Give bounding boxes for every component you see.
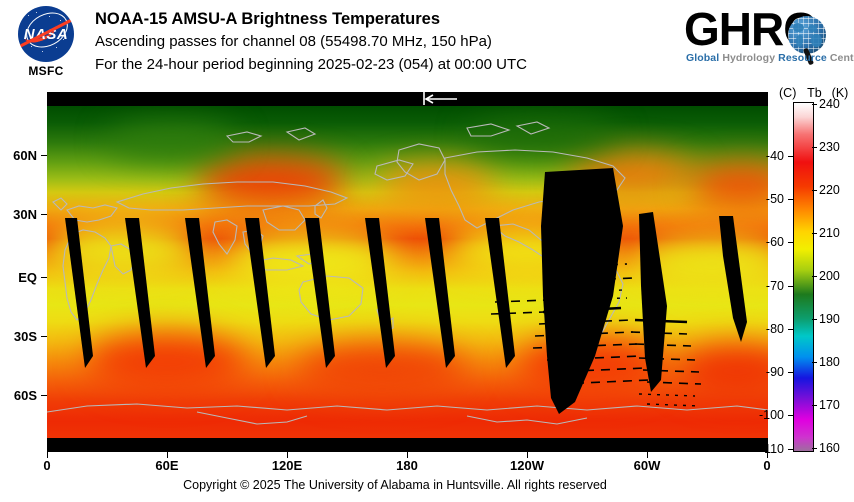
cb-label-k-230: 230 (819, 140, 840, 154)
lat-label-60s: 60S (0, 388, 37, 403)
ghrc-subtitle: Global Hydrology Resource Center (686, 52, 854, 64)
lon-label-0e: 0 (27, 458, 67, 473)
nasa-logo: NASA MSFC (14, 6, 78, 78)
colorbar-unit-celsius: (C) (779, 86, 796, 100)
lon-label-60w: 60W (627, 458, 667, 473)
cb-tick-c-m90 (788, 372, 793, 373)
cb-tick-k-160 (812, 448, 817, 449)
ghrc-word-center: Center (830, 52, 854, 64)
lat-tick-eq (41, 277, 47, 278)
cb-tick-c-m100 (788, 415, 793, 416)
cb-label-k-160: 160 (819, 441, 840, 455)
brightness-temperature-field (47, 106, 768, 438)
nasa-center-label: MSFC (14, 64, 78, 78)
cb-label-c-m70: -70 (740, 279, 784, 293)
lat-tick-60s (41, 395, 47, 396)
lon-label-60e: 60E (147, 458, 187, 473)
colorbar-gradient (793, 102, 814, 452)
cb-tick-k-210 (812, 233, 817, 234)
lat-tick-30n (41, 214, 47, 215)
cb-label-c-m100: -100 (740, 408, 784, 422)
cb-tick-c-m60 (788, 242, 793, 243)
map-plot-area (47, 92, 768, 452)
page-title: NOAA-15 AMSU-A Brightness Temperatures (95, 8, 527, 30)
cb-tick-k-190 (812, 319, 817, 320)
lon-label-120w: 120W (503, 458, 551, 473)
cb-tick-c-m70 (788, 286, 793, 287)
cb-tick-k-170 (812, 405, 817, 406)
lat-tick-30s (41, 336, 47, 337)
nasa-meatball-icon: NASA (18, 6, 74, 62)
ghrc-word-hydrology: Hydrology (722, 52, 775, 64)
lat-label-eq: EQ (0, 270, 37, 285)
subtitle-period: For the 24-hour period beginning 2025-02… (95, 53, 527, 76)
orbit-start-marker-icon (413, 92, 459, 106)
cb-label-k-210: 210 (819, 226, 840, 240)
cb-tick-k-180 (812, 362, 817, 363)
lon-label-120e: 120E (263, 458, 311, 473)
cb-label-k-200: 200 (819, 269, 840, 283)
lon-label-180: 180 (387, 458, 427, 473)
cb-label-c-m80: -80 (740, 322, 784, 336)
title-block: NOAA-15 AMSU-A Brightness Temperatures A… (95, 8, 527, 76)
cb-label-c-m50: -50 (740, 192, 784, 206)
cb-tick-c-m110 (788, 449, 793, 450)
cb-label-k-190: 190 (819, 312, 840, 326)
cb-label-c-m40: -40 (740, 149, 784, 163)
lat-label-30n: 30N (0, 207, 37, 222)
lon-label-360: 0 (747, 458, 787, 473)
lat-label-60n: 60N (0, 148, 37, 163)
copyright-notice: Copyright © 2025 The University of Alaba… (0, 478, 790, 492)
lat-label-30s: 30S (0, 329, 37, 344)
subtitle-channel: Ascending passes for channel 08 (55498.7… (95, 30, 527, 53)
ghrc-logo: GHRC Global Hydrology Resource Center (684, 8, 844, 72)
cb-label-k-180: 180 (819, 355, 840, 369)
cb-tick-c-m50 (788, 199, 793, 200)
cb-tick-k-200 (812, 276, 817, 277)
cb-tick-k-240 (812, 104, 817, 105)
cb-label-k-220: 220 (819, 183, 840, 197)
cb-tick-k-220 (812, 190, 817, 191)
ghrc-word-global: Global (686, 52, 719, 64)
cb-label-c-m110: -110 (740, 442, 784, 456)
cb-tick-c-m40 (788, 156, 793, 157)
cb-tick-k-230 (812, 147, 817, 148)
cb-label-k-240: 240 (819, 97, 840, 111)
ghrc-word-resource: Resource (778, 52, 827, 64)
cb-tick-c-m80 (788, 329, 793, 330)
cb-label-c-m90: -90 (740, 365, 784, 379)
lat-tick-60n (41, 155, 47, 156)
cb-label-k-170: 170 (819, 398, 840, 412)
cb-label-c-m60: -60 (740, 235, 784, 249)
